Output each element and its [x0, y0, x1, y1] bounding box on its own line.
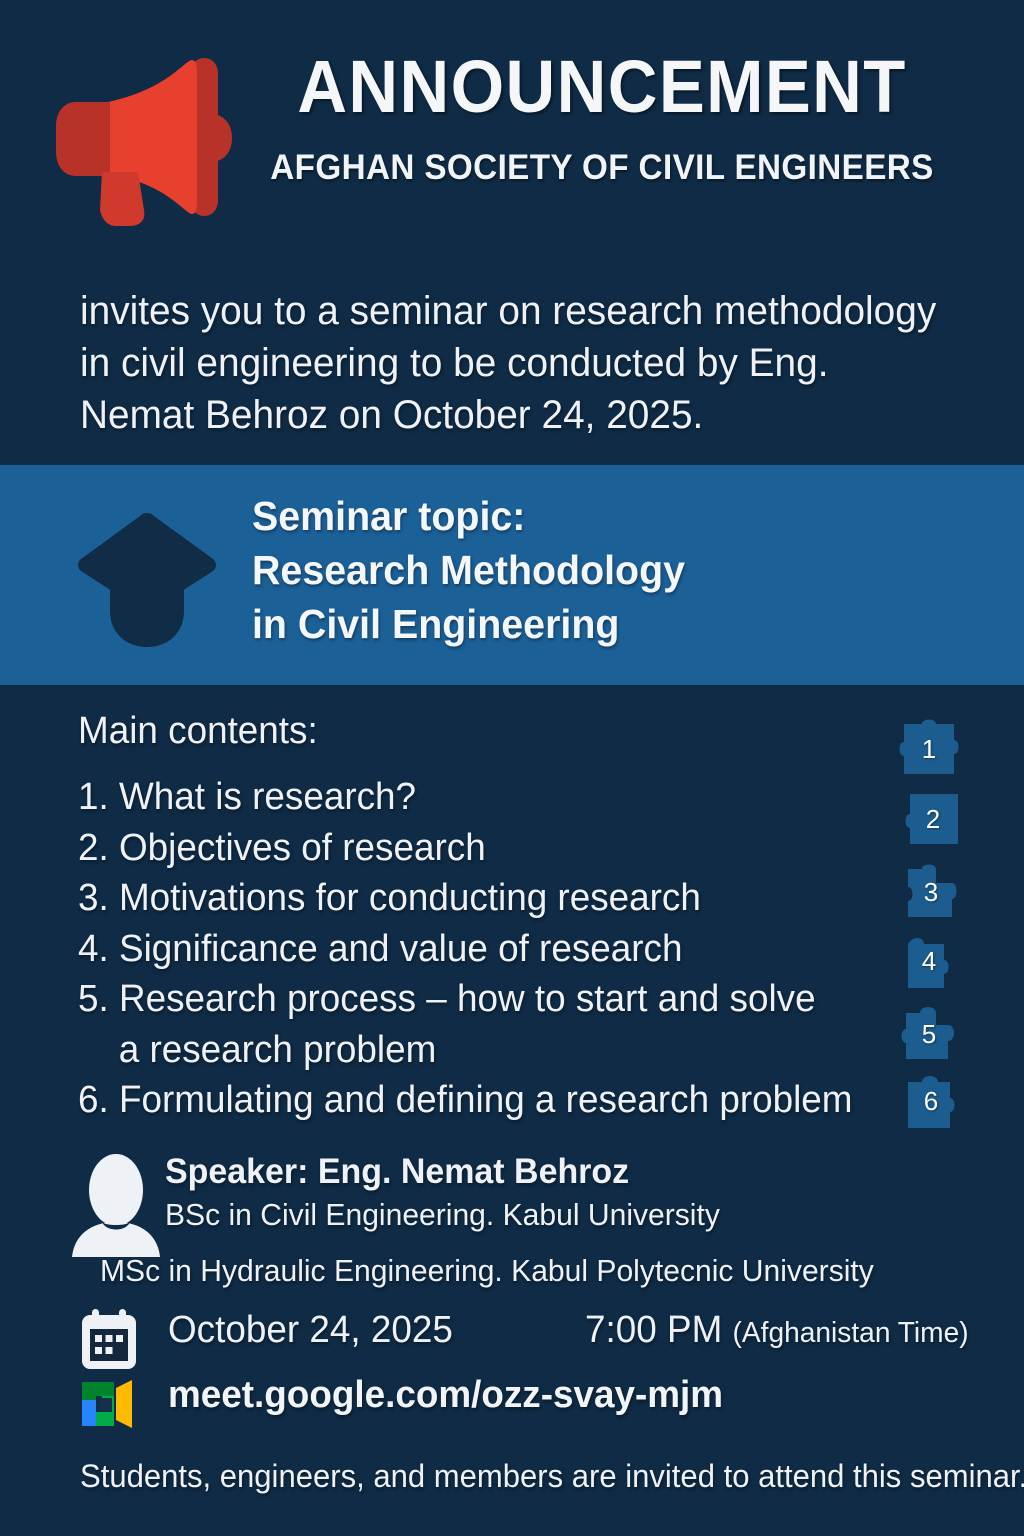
page-title: ANNOUNCEMENT: [277, 50, 928, 124]
speaker-text-group: Speaker: Eng. Nemat Behroz BSc in Civil …: [165, 1152, 720, 1235]
puzzle-piece-2: 2: [902, 788, 964, 850]
seminar-topic-banner: Seminar topic: Research Methodology in C…: [0, 465, 1024, 685]
main-contents-heading: Main contents:: [78, 712, 854, 750]
topic-title-line-1: Research Methodology: [252, 543, 685, 597]
topic-text-group: Seminar topic: Research Methodology in C…: [252, 489, 685, 651]
list-item: 4. Significance and value of research: [78, 924, 854, 975]
speaker-degree-bsc: BSc in Civil Engineering. Kabul Universi…: [165, 1195, 720, 1235]
puzzle-decoration-column: 1 2 3 4 5: [884, 718, 994, 1138]
puzzle-piece-5: 5: [898, 1003, 960, 1065]
speaker-name: Speaker: Eng. Nemat Behroz: [165, 1152, 720, 1192]
puzzle-piece-4: 4: [898, 930, 960, 992]
graduation-cap-icon: [72, 509, 222, 649]
meet-link[interactable]: meet.google.com/ozz-svay-mjm: [168, 1374, 723, 1417]
meet-link-row: meet.google.com/ozz-svay-mjm: [80, 1378, 1020, 1438]
list-item: 2. Objectives of research: [78, 823, 854, 874]
list-item-continuation: a research problem: [78, 1025, 854, 1076]
organization-name: AFGHAN SOCIETY OF CIVIL ENGINEERS: [270, 148, 935, 188]
google-meet-icon: [80, 1378, 136, 1430]
topic-label: Seminar topic:: [252, 489, 685, 543]
announcement-poster: ANNOUNCEMENT AFGHAN SOCIETY OF CIVIL ENG…: [0, 0, 1024, 1536]
invitation-line-1: invites you to a seminar on research met…: [80, 285, 953, 337]
puzzle-piece-6: 6: [900, 1070, 962, 1132]
list-item: 6. Formulating and defining a research p…: [78, 1075, 854, 1126]
main-contents-section: Main contents: 1. What is research? 2. O…: [78, 712, 854, 1126]
invitation-line-3: Nemat Behroz on October 24, 2025.: [80, 389, 953, 441]
puzzle-piece-label: 4: [898, 930, 960, 992]
event-date: October 24, 2025: [168, 1309, 453, 1352]
invitation-line-2: in civil engineering to be conducted by …: [80, 337, 953, 389]
invitation-paragraph: invites you to a seminar on research met…: [80, 285, 953, 441]
event-time: 7:00 PM: [585, 1309, 722, 1351]
megaphone-icon: [52, 52, 232, 227]
puzzle-piece-label: 2: [902, 788, 964, 850]
puzzle-piece-label: 6: [900, 1070, 962, 1132]
speaker-degree-msc: MSc in Hydraulic Engineering. Kabul Poly…: [100, 1253, 874, 1289]
puzzle-piece-label: 5: [898, 1003, 960, 1065]
event-time-group: 7:00 PM (Afghanistan Time): [585, 1309, 969, 1352]
list-item: 5. Research process – how to start and s…: [78, 974, 854, 1025]
event-datetime-row: October 24, 2025 7:00 PM (Afghanistan Ti…: [80, 1305, 1020, 1375]
topic-title-line-2: in Civil Engineering: [252, 597, 685, 651]
calendar-icon: [80, 1309, 138, 1371]
puzzle-piece-3: 3: [900, 861, 962, 923]
main-contents-list: 1. What is research? 2. Objectives of re…: [78, 772, 854, 1126]
person-icon: [70, 1152, 162, 1257]
puzzle-piece-1: 1: [898, 718, 960, 780]
list-item: 1. What is research?: [78, 772, 854, 823]
poster-header: ANNOUNCEMENT AFGHAN SOCIETY OF CIVIL ENG…: [0, 0, 1024, 255]
puzzle-piece-label: 1: [898, 718, 960, 780]
event-timezone: (Afghanistan Time): [733, 1317, 969, 1349]
list-item: 3. Motivations for conducting research: [78, 873, 854, 924]
header-text-group: ANNOUNCEMENT AFGHAN SOCIETY OF CIVIL ENG…: [252, 50, 952, 188]
puzzle-piece-label: 3: [900, 861, 962, 923]
footer-note: Students, engineers, and members are inv…: [80, 1458, 982, 1495]
